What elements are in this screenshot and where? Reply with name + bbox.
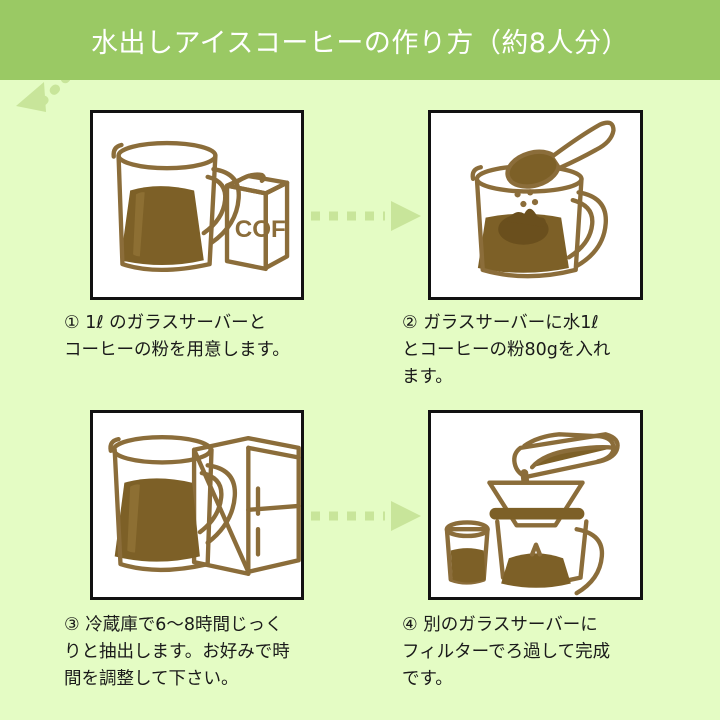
spoon-pouring-grounds-into-server-icon: [431, 113, 640, 297]
arrow-step1-to-step2: [305, 195, 427, 237]
header-banner: 水出しアイスコーヒーの作り方（約8人分）: [0, 0, 720, 80]
arrow-step3-to-step4: [305, 495, 427, 537]
step-4-caption: ④ 別のガラスサーバーに フィルターでろ過して完成 です。: [402, 612, 674, 693]
step-1-caption: ① 1ℓ のガラスサーバーと コーヒーの粉を用意します。: [64, 310, 332, 364]
coffee-bag-label: COF: [235, 216, 286, 243]
pour-through-filter-into-second-server-icon: [431, 413, 640, 597]
step-1-illustration-panel: COF: [90, 110, 304, 300]
server-beside-refrigerator-icon: [93, 413, 301, 597]
step-2-caption: ② ガラスサーバーに水1ℓ とコーヒーの粉80gを入れ ます。: [402, 310, 674, 391]
step-3-illustration-panel: [90, 410, 304, 600]
step-4-illustration-panel: [428, 410, 643, 600]
recipe-infographic: 水出しアイスコーヒーの作り方（約8人分）: [0, 0, 720, 720]
step-2-illustration-panel: [428, 110, 643, 300]
page-title: 水出しアイスコーヒーの作り方（約8人分）: [91, 21, 629, 60]
glass-server-and-coffee-bag-icon: COF: [93, 113, 301, 297]
step-3-caption: ③ 冷蔵庫で6〜8時間じっく りと抽出します。お好みで時 間を調整して下さい。: [64, 612, 332, 693]
